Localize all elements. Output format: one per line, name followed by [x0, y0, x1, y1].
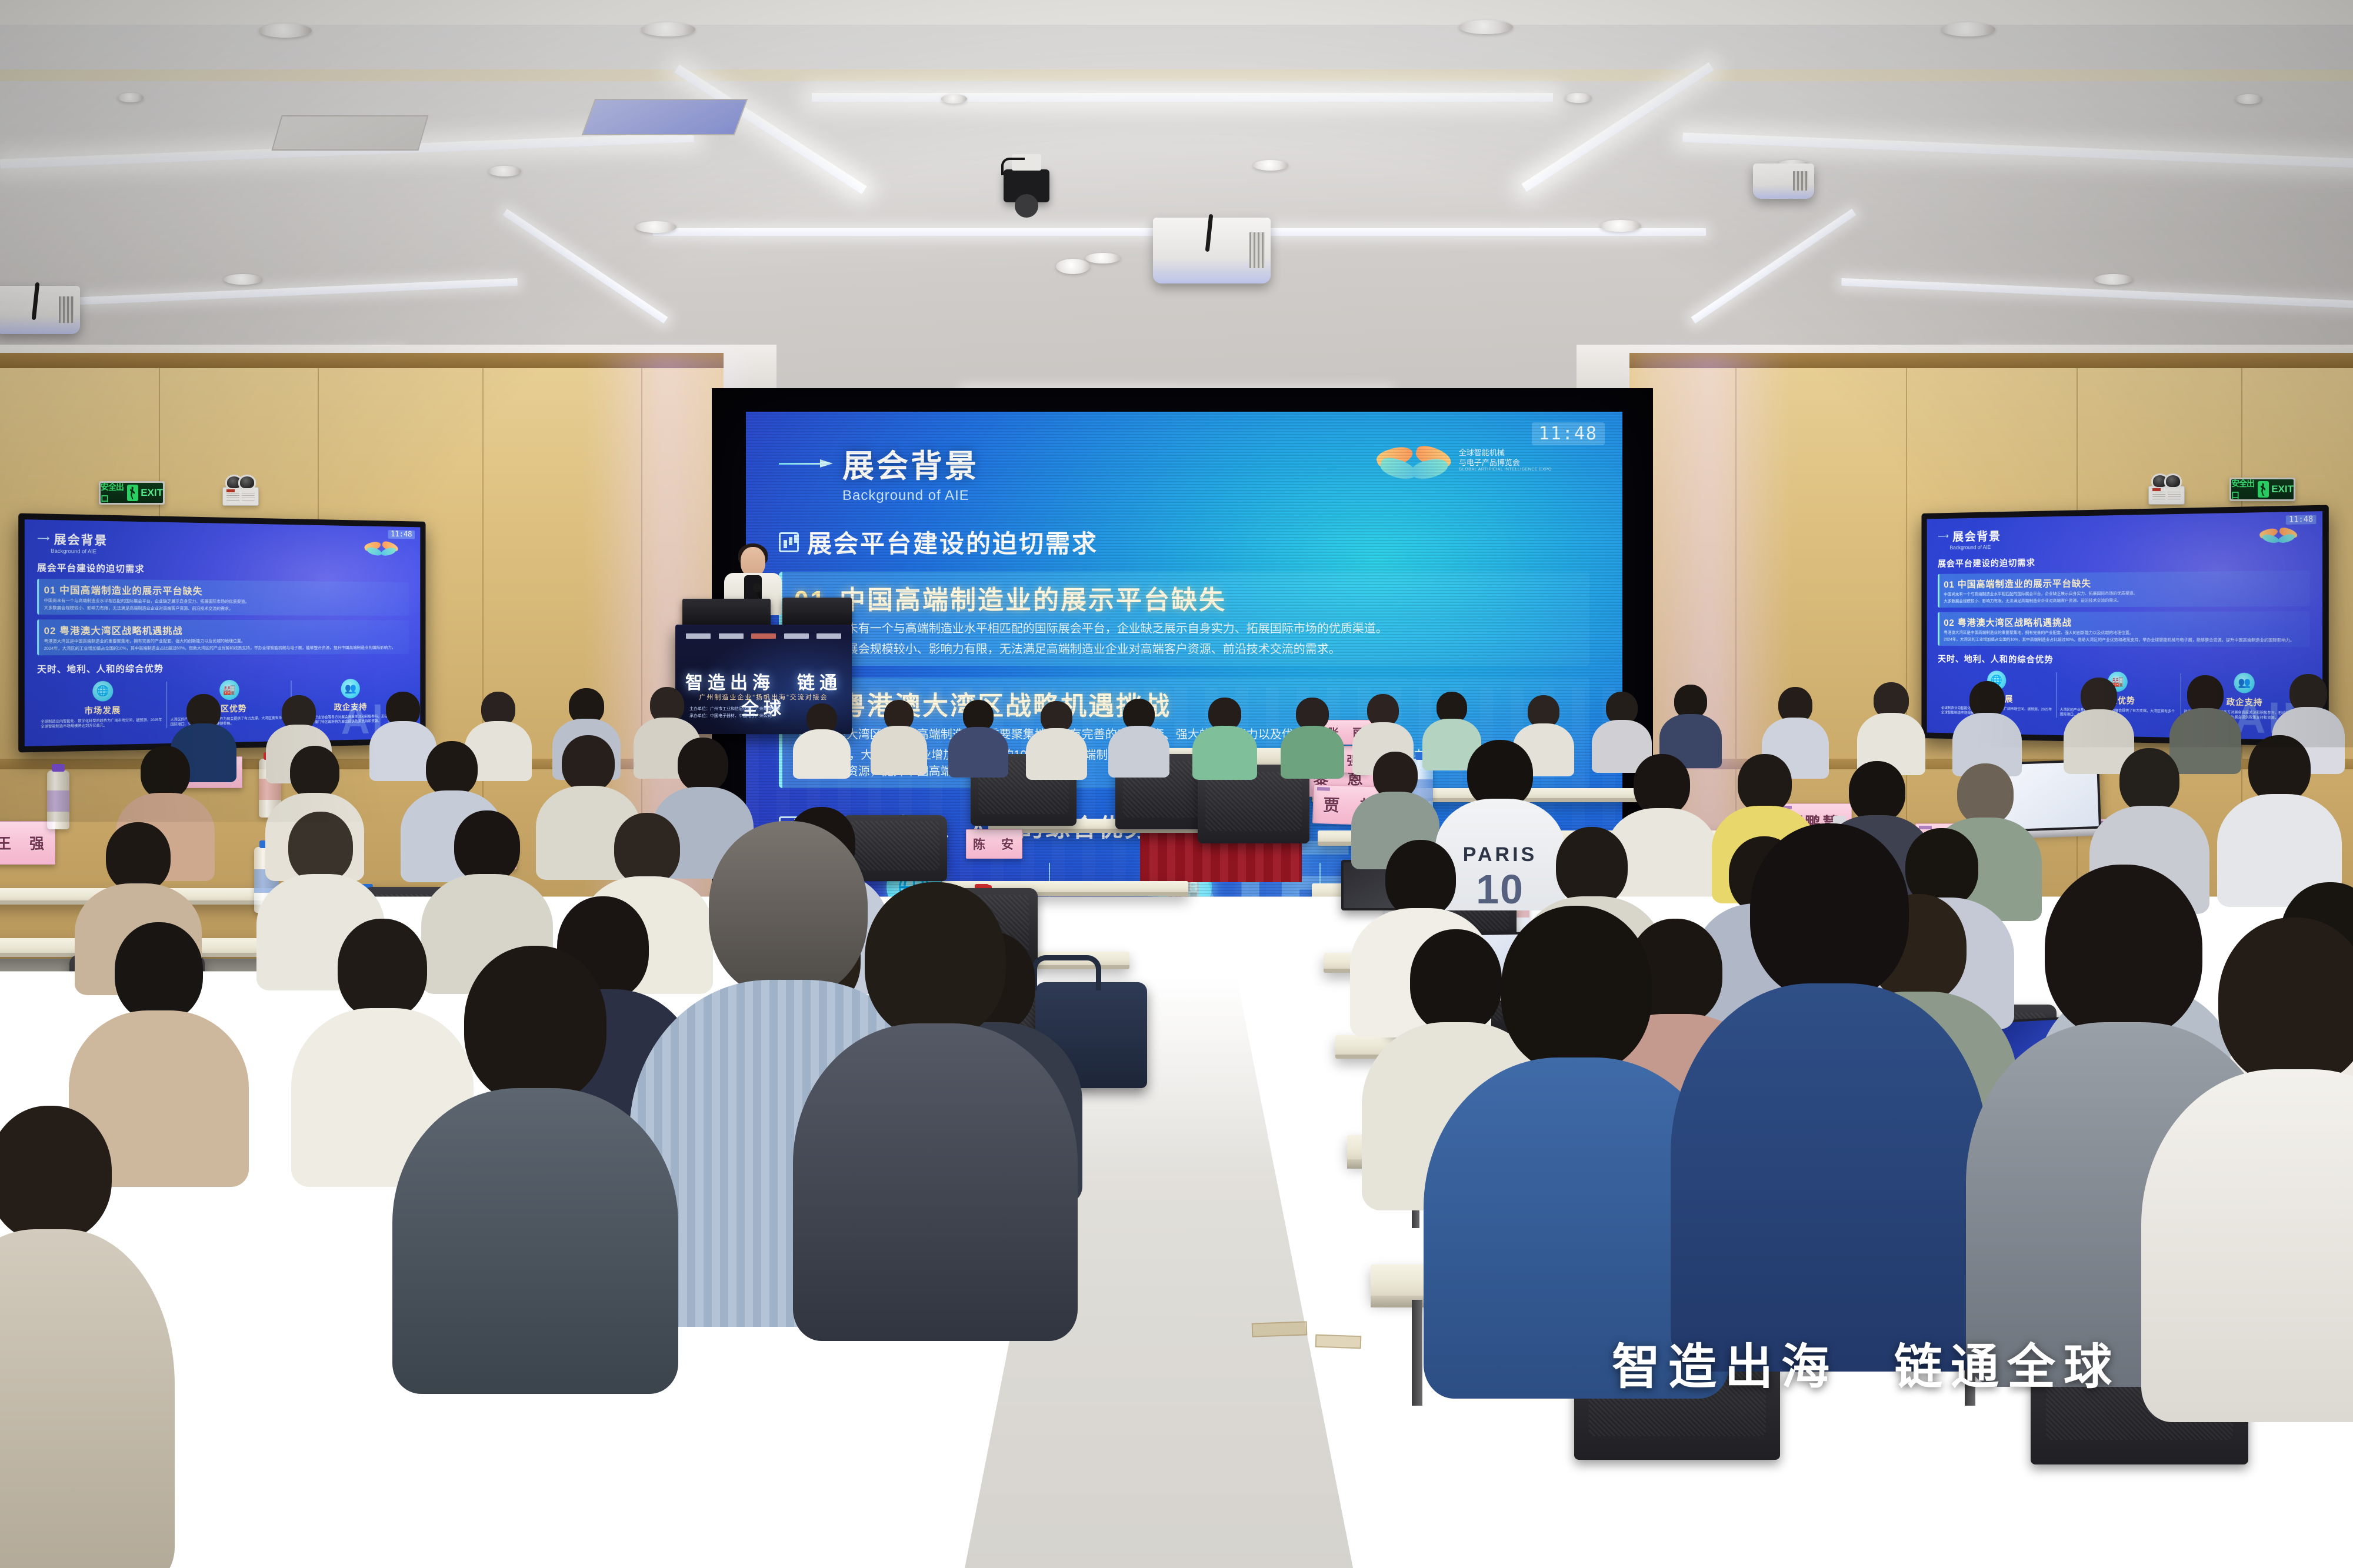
audience-person	[1864, 682, 1919, 766]
podium-laptop	[682, 599, 771, 627]
bullet-text: 大多数展会规模较小、影响力有限，无法满足高端制造业企业对高端客户资源、前沿技术交…	[811, 641, 1341, 658]
sponsor-logo	[686, 633, 711, 639]
card-number: 02	[1944, 618, 1954, 628]
aie-logo-mark	[2259, 528, 2298, 544]
downlight	[641, 22, 695, 36]
bullet-text: 中国尚未有一个与高端制造业水平相匹配的国际展会平台，企业缺乏展示自身实力、拓展国…	[1944, 590, 2305, 598]
bottom-bar-white	[0, 1464, 2353, 1532]
audience-person-foreground	[824, 882, 1047, 1317]
card-number: 02	[44, 626, 56, 637]
bottom-bar-accent	[435, 1397, 449, 1415]
card-title: 中国高端制造业的展示平台缺失	[839, 579, 1227, 616]
audience-person	[953, 700, 1004, 772]
slide-timer: 11:48	[1532, 422, 1605, 445]
advantage-column: 🌐 市场发展 全球制造业向智能化、数字化转型的趋势为广阔市场空间，据预测，202…	[37, 680, 166, 730]
monitor-slide-title: 展会背景	[54, 530, 108, 548]
bullet-text: 粤港澳大湾区是中国高端制造业的重要聚集地，拥有完善的产业配套、强大的创新能力以及…	[44, 639, 405, 645]
speaker-head	[741, 547, 765, 576]
name-card-text: 陈 安	[973, 835, 1015, 853]
running-man-icon	[127, 485, 138, 501]
downlight	[1085, 253, 1121, 263]
column-desc: 全球制造业向智能化、数字化转型的趋势为广阔市场空间，据预测，2025年全球智能制…	[37, 718, 166, 730]
downlight	[2094, 274, 2133, 285]
brand-name: 全球智能机械 与电子产品博览会	[1459, 448, 1552, 468]
downlight	[1253, 160, 1288, 171]
brand-text: 全球智能机械 与电子产品博览会 GLOBAL ARTIFICIAL INTELL…	[1459, 448, 1552, 472]
sponsor-logo	[784, 633, 809, 639]
audience-person	[796, 703, 847, 774]
ceiling-projector	[1153, 218, 1271, 283]
bullet-text: 2024年，大湾区的工业增加值占全国的10%，其中高端制造业占比超过60%。借助…	[1944, 638, 2305, 644]
bullet-text: 粤港澳大湾区是中国高端制造业的重要聚集地，拥有完善的产业配套、强大的创新能力以及…	[1944, 630, 2305, 636]
globe-icon: 🌐	[92, 680, 113, 701]
monitor-card-01: 01 中国高端制造业的展示平台缺失 中国尚未有一个与高端制造业水平相匹配的国际展…	[1938, 571, 2310, 608]
audience-person	[1198, 698, 1252, 773]
org-logo	[1317, 787, 1330, 791]
bullet-text: 中国尚未有一个与高端制造业水平相匹配的国际展会平台，企业缺乏展示自身实力、拓展国…	[44, 598, 405, 606]
sponsor-logo	[719, 633, 744, 639]
exit-sign-en-label: EXIT	[2271, 483, 2294, 495]
podium-monitor	[782, 598, 852, 626]
ceiling-projector-right	[1753, 164, 1814, 199]
podium-sponsor-logos	[686, 633, 841, 639]
monitor-card-02: 02 粤港澳大湾区战略机遇挑战 粤港澳大湾区是中国高端制造业的重要聚集地，拥有完…	[37, 619, 409, 655]
downlight	[941, 94, 967, 104]
monitor-timer: 11:48	[2286, 515, 2317, 525]
brand-subtitle: GLOBAL ARTIFICIAL INTELLIGENCE EXPO	[1459, 468, 1552, 473]
water-bottle	[197, 1240, 241, 1352]
card-title: 粤港澳大湾区战略机遇挑战	[1958, 618, 2072, 628]
water-bottle	[47, 770, 69, 829]
slide-card-01: 01 中国高端制造业的展示平台缺失 ❯ 中国尚未有一个与高端制造业水平相匹配的国…	[779, 572, 1589, 666]
conference-hall-photo: 安全出口 EXIT 安全出口 EXIT 11:48	[0, 0, 2353, 1568]
emergency-light-left	[222, 487, 259, 506]
card-bullet: ❯ 中国尚未有一个与高端制造业水平相匹配的国际展会平台，企业缺乏展示自身实力、拓…	[794, 620, 1578, 637]
card-bullet: ❯ 大多数展会规模较小、影响力有限，无法满足高端制造业企业对高端客户资源、前沿技…	[794, 641, 1578, 658]
floor-marker	[1252, 1321, 1308, 1337]
downlight	[1459, 20, 1513, 34]
card-number: 01	[44, 585, 56, 596]
table-leg	[1412, 1300, 1422, 1406]
downlight	[259, 24, 312, 38]
downlight	[224, 274, 262, 285]
name-card: 陈 安	[966, 829, 1022, 859]
downlight	[2235, 94, 2262, 104]
exit-sign-cn-label: 安全出口	[101, 481, 125, 505]
monitor-section-1: 展会平台建设的迫切需求	[37, 561, 409, 578]
audience-person-foreground	[1706, 823, 1953, 1353]
running-man-icon	[2258, 481, 2269, 498]
bullet-text: 中国尚未有一个与高端制造业水平相匹配的国际展会平台，企业缺乏展示自身实力、拓展国…	[811, 620, 1388, 637]
slide-title: 展会背景	[842, 440, 979, 486]
column-label: 市场发展	[37, 703, 166, 717]
monitor-card-02: 02 粤港澳大湾区战略机遇挑战 粤港澳大湾区是中国高端制造业的重要聚集地，拥有完…	[1938, 611, 2310, 647]
exit-sign-right: 安全出口 EXIT	[2229, 478, 2295, 501]
floor-marker	[1315, 1335, 1362, 1349]
audience-person-foreground	[424, 946, 647, 1369]
downlight	[118, 93, 144, 102]
monitor-slide-title: 展会背景	[1952, 527, 2001, 545]
card-title: 中国高端制造业的展示平台缺失	[59, 586, 202, 597]
card-title: 粤港澳大湾区战略机遇挑战	[59, 626, 182, 637]
monitor-timer: 11:48	[388, 530, 415, 539]
aie-logo-mark	[364, 541, 398, 556]
exit-sign-en-label: EXIT	[141, 487, 163, 499]
card-number: 01	[1944, 580, 1954, 590]
sponsor-logo	[751, 633, 776, 639]
bullet-text: 大多数展会规模较小、影响力有限，无法满足高端制造业企业对高端客户资源、前沿技术交…	[44, 606, 405, 613]
audience-person	[1665, 685, 1717, 760]
podium-subline: 广州制造业企业“扬帆出海”交流对接会	[675, 692, 852, 702]
card-title: 中国高端制造业的展示平台缺失	[1958, 579, 2091, 589]
bottom-overlay-headline: 智造出海 链通全球	[1612, 1327, 2120, 1397]
ceiling-vent	[271, 115, 428, 151]
downlight	[1941, 22, 1995, 36]
audience-person	[874, 700, 924, 770]
arrow-icon	[779, 459, 833, 468]
monitor-section-1: 展会平台建设的迫切需求	[1938, 553, 2310, 569]
ceiling-camera	[1004, 169, 1049, 202]
ceiling-projector-left	[0, 286, 80, 334]
audience-person	[1113, 699, 1165, 772]
monitor-section-2: 天时、地利、人和的综合优势	[1938, 652, 2310, 667]
downlight	[1565, 93, 1592, 103]
event-brand-logo: 全球智能机械 与电子产品博览会 GLOBAL ARTIFICIAL INTELL…	[1377, 445, 1552, 476]
exit-sign-left: 安全出口 EXIT	[99, 481, 165, 505]
monitor-card-01: 01 中国高端制造业的展示平台缺失 中国尚未有一个与高端制造业水平相匹配的国际展…	[37, 579, 409, 616]
name-card-text: 王 强	[0, 832, 46, 853]
smoke-detector	[1056, 259, 1090, 274]
aie-logo-mark	[1377, 445, 1452, 476]
people-icon: 👥	[2234, 672, 2255, 693]
ceiling-vent	[582, 99, 748, 135]
people-icon: 👥	[341, 679, 360, 699]
audience-person	[1286, 698, 1339, 772]
downlight	[635, 221, 676, 233]
slide-section-1-title: 展会平台建设的迫切需求	[807, 524, 1098, 560]
audience-person-foreground	[1459, 906, 1694, 1376]
downlight	[1600, 220, 1641, 232]
audience-person-foreground	[2177, 918, 2353, 1400]
sponsor-logo	[816, 633, 841, 639]
exit-sign-cn-label: 安全出口	[2231, 478, 2255, 501]
bottom-bar-navy-upper	[0, 1400, 2353, 1464]
bullet-text: 大多数展会规模较小、影响力有限，无法满足高端制造业企业对高端客户资源、前沿技术交…	[1944, 598, 2305, 605]
emergency-light-right	[2148, 486, 2185, 505]
slide-subtitle: Background of AIE	[842, 488, 1589, 504]
downlight	[488, 166, 521, 176]
monitor-section-2: 天时、地利、人和的综合优势	[37, 660, 409, 675]
bottom-bar-navy-lower	[0, 1532, 2353, 1568]
bullet-text: 2024年，大湾区的工业增加值占全国的10%，其中高端制造业占比超过60%。借助…	[44, 646, 405, 652]
audience-person	[1031, 701, 1082, 773]
audience-person	[1959, 681, 2015, 766]
